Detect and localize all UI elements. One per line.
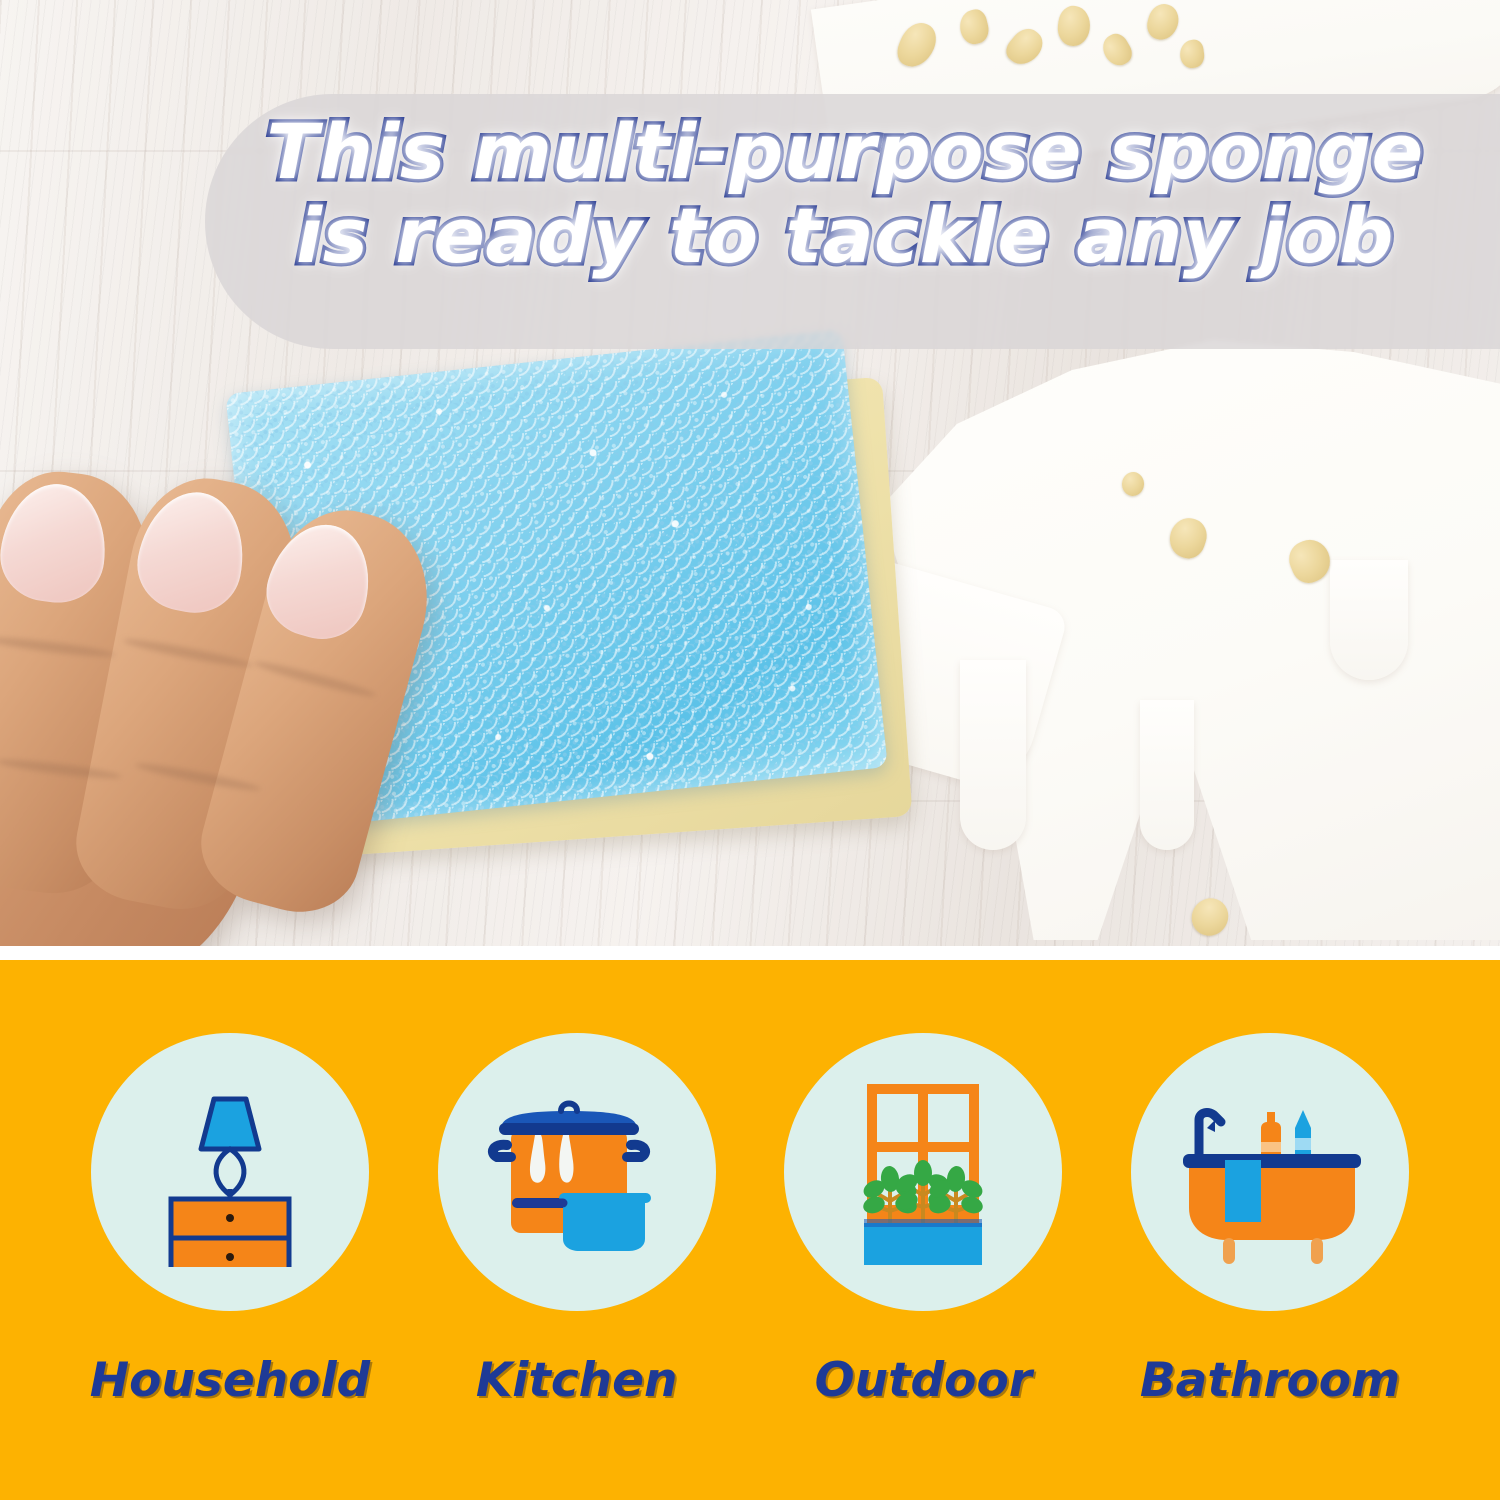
pots-pans-icon (477, 1077, 677, 1267)
use-item-kitchen[interactable]: Kitchen (435, 960, 719, 1408)
use-label-outdoor: Outdoor (815, 1353, 1032, 1408)
bathtub-icon (1165, 1080, 1375, 1265)
headline-line-1: This multi-purpose sponge (266, 107, 1423, 196)
uses-row: Household (0, 960, 1500, 1408)
use-label-bathroom: Bathroom (1140, 1353, 1400, 1408)
use-item-household[interactable]: Household (88, 960, 372, 1408)
milk-drip (1140, 700, 1194, 850)
use-item-bathroom[interactable]: Bathroom (1128, 960, 1412, 1408)
nightstand-lamp-icon (135, 1077, 325, 1267)
use-label-kitchen: Kitchen (476, 1353, 678, 1408)
headline-line-2: is ready to tackle any job (205, 194, 1485, 278)
kitchen-icon-bubble (438, 1033, 716, 1311)
outdoor-icon-bubble (784, 1033, 1062, 1311)
household-icon-bubble (91, 1033, 369, 1311)
bathroom-icon-bubble (1131, 1033, 1409, 1311)
use-item-outdoor[interactable]: Outdoor (781, 960, 1065, 1408)
product-feature-poster: This multi-purpose sponge is ready to ta… (0, 0, 1500, 1500)
milk-drip (960, 660, 1026, 850)
hand (0, 392, 630, 946)
window-planter-icon (828, 1075, 1018, 1270)
uses-panel: Household (0, 960, 1500, 1500)
product-photo: This multi-purpose sponge is ready to ta… (0, 0, 1500, 946)
headline-text: This multi-purpose sponge is ready to ta… (205, 110, 1485, 277)
milk-drip (1330, 560, 1408, 680)
use-label-household: Household (90, 1353, 370, 1408)
